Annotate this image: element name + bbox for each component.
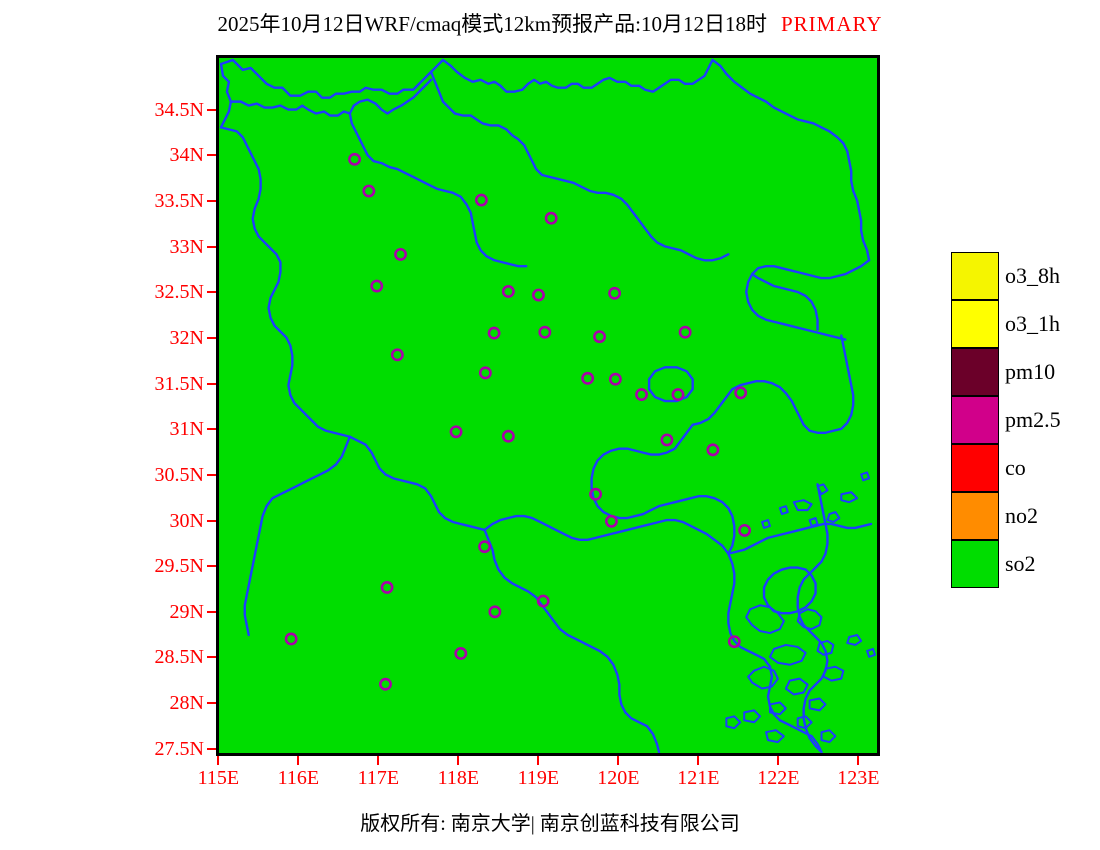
y-axis-tick <box>207 474 216 476</box>
legend-item-label: pm2.5 <box>1005 408 1061 432</box>
y-axis-label: 29N <box>126 602 204 622</box>
legend-item-label: co <box>1005 456 1026 480</box>
legend-item-label: so2 <box>1005 552 1036 576</box>
legend-color-swatch <box>951 252 999 300</box>
y-axis-tick <box>207 702 216 704</box>
legend-item-label: o3_8h <box>1005 264 1060 288</box>
legend-color-swatch <box>951 348 999 396</box>
x-axis-tick <box>377 756 379 765</box>
y-axis-tick <box>207 748 216 750</box>
x-axis-label: 122E <box>738 768 818 788</box>
x-axis-label: 116E <box>258 768 338 788</box>
y-axis-label: 31.5N <box>126 374 204 394</box>
title-main-text: 2025年10月12日WRF/cmaq模式12km预报产品:10月12日18时 <box>217 12 767 36</box>
x-axis-label: 115E <box>178 768 258 788</box>
y-axis-label: 32.5N <box>126 282 204 302</box>
x-axis-label: 121E <box>658 768 738 788</box>
y-axis-tick <box>207 109 216 111</box>
map-canvas <box>219 58 877 753</box>
x-axis-tick <box>777 756 779 765</box>
x-axis-tick <box>617 756 619 765</box>
page-title: 2025年10月12日WRF/cmaq模式12km预报产品:10月12日18时P… <box>0 12 1100 36</box>
title-primary-badge: PRIMARY <box>781 12 883 36</box>
y-axis-label: 34N <box>126 145 204 165</box>
legend-item-label: no2 <box>1005 504 1038 528</box>
y-axis-label: 28N <box>126 693 204 713</box>
y-axis-tick <box>207 337 216 339</box>
y-axis-label: 34.5N <box>126 100 204 120</box>
x-axis-label: 118E <box>418 768 498 788</box>
y-axis-tick <box>207 428 216 430</box>
y-axis-tick <box>207 200 216 202</box>
y-axis-label: 27.5N <box>126 739 204 759</box>
y-axis-label: 33.5N <box>126 191 204 211</box>
y-axis-tick <box>207 246 216 248</box>
x-axis-tick <box>457 756 459 765</box>
y-axis-tick <box>207 656 216 658</box>
legend-item-label: pm10 <box>1005 360 1055 384</box>
x-axis-tick <box>537 756 539 765</box>
y-axis-label: 31N <box>126 419 204 439</box>
x-axis-tick <box>217 756 219 765</box>
y-axis-label: 33N <box>126 237 204 257</box>
x-axis-tick <box>697 756 699 765</box>
x-axis-tick <box>297 756 299 765</box>
x-axis-label: 117E <box>338 768 418 788</box>
legend-color-swatch <box>951 396 999 444</box>
x-axis-label: 119E <box>498 768 578 788</box>
legend-color-swatch <box>951 300 999 348</box>
copyright-footer: 版权所有: 南京大学| 南京创蓝科技有限公司 <box>0 812 1100 836</box>
x-axis-label: 120E <box>578 768 658 788</box>
x-axis-tick <box>857 756 859 765</box>
y-axis-tick <box>207 154 216 156</box>
figure-root: 2025年10月12日WRF/cmaq模式12km预报产品:10月12日18时P… <box>0 0 1100 850</box>
y-axis-label: 28.5N <box>126 647 204 667</box>
map-panel[interactable] <box>216 55 880 756</box>
y-axis-label: 30N <box>126 511 204 531</box>
y-axis-tick <box>207 291 216 293</box>
y-axis-tick <box>207 565 216 567</box>
legend-item-label: o3_1h <box>1005 312 1060 336</box>
y-axis-tick <box>207 611 216 613</box>
y-axis-tick <box>207 383 216 385</box>
y-axis-label: 30.5N <box>126 465 204 485</box>
y-axis-label: 29.5N <box>126 556 204 576</box>
y-axis-label: 32N <box>126 328 204 348</box>
legend-color-swatch <box>951 444 999 492</box>
legend-color-swatch <box>951 540 999 588</box>
legend-color-swatch <box>951 492 999 540</box>
map-background <box>219 58 877 753</box>
y-axis-tick <box>207 520 216 522</box>
x-axis-label: 123E <box>818 768 898 788</box>
